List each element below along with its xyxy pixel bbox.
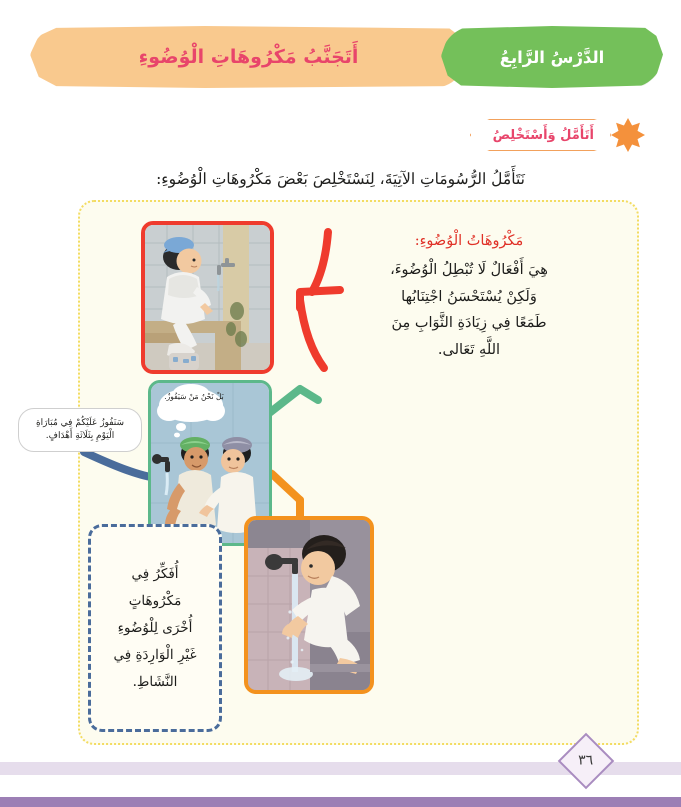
flower-diamond-icon — [611, 118, 645, 152]
definition-line-2: وَلَكِنْ يُسْتَحْسَنُ اجْتِنَابُها — [401, 289, 537, 305]
definition-line-4: اللَّهِ تَعَالى. — [438, 342, 500, 358]
footer-rule — [0, 797, 681, 807]
lesson-title-text: أَتَجَنَّبُ مَكْرُوهَاتِ الْوُضُوءِ — [139, 46, 359, 68]
page-number-text: ٣٦ — [578, 753, 593, 769]
reflection-line-2: مَكْرُوهَاتٍ — [129, 593, 182, 609]
lesson-number-tab: الدَّرْسُ الرَّابِعُ — [441, 26, 663, 88]
textbook-page: أَتَجَنَّبُ مَكْرُوهَاتِ الْوُضُوءِ الدَ… — [0, 0, 681, 807]
intro-instruction: نَتَأَمَّلُ الرُّسُومَاتِ الآتِيَةَ، لِن… — [46, 170, 635, 188]
reflection-line-5: النَّشَاطِ. — [133, 674, 178, 690]
section-badge-label: أَتَأَمَّلُ وَأَسْتَخْلِصُ — [493, 128, 594, 143]
reflection-box: أُفَكِّرُ فِي مَكْرُوهَاتٍ أُخْرَى لِلْو… — [88, 524, 222, 732]
section-badge-frame: أَتَأَمَّلُ وَأَسْتَخْلِصُ — [470, 119, 611, 151]
section-badge: أَتَأَمَّلُ وَأَسْتَخْلِصُ — [470, 118, 635, 152]
definition-block: مَكْرُوهَاتُ الْوُضُوءِ: هِيَ أَفْعَالٌ … — [353, 228, 585, 364]
lesson-number-text: الدَّرْسُ الرَّابِعُ — [500, 48, 605, 67]
speech-bubble-right: سَنَفُوزُ عَلَيْكُمْ فِي مُبَارَاةِ الْي… — [18, 408, 142, 452]
definition-heading: مَكْرُوهَاتُ الْوُضُوءِ: — [353, 228, 585, 255]
reflection-line-3: أُخْرَى لِلْوُضُوءِ — [118, 620, 193, 636]
definition-line-1: هِيَ أَفْعَالٌ لَا تُبْطِلُ الْوُضُوءَ، — [390, 262, 548, 278]
scene-boy-running-tap — [248, 520, 370, 690]
definition-line-3: طَمَعًا فِي زِيَادَةِ الثَّوَابِ مِنَ — [391, 315, 546, 331]
card-water-waste: ............ فِي اسْتِخْدَامِ الْمَاءِ. — [244, 516, 374, 694]
lesson-title-tab: أَتَجَنَّبُ مَكْرُوهَاتِ الْوُضُوءِ — [30, 26, 467, 88]
reflection-line-4: غَيْرِ الْوَارِدَةِ فِي — [113, 647, 196, 663]
card-wudu-place: الْوُضُوءُ فِي مَكَانٍ ........... — [141, 221, 274, 374]
reflection-line-1: أُفَكِّرُ فِي — [131, 566, 178, 582]
scene-boy-wudu-outdoor-tap — [145, 225, 270, 370]
page-header: أَتَجَنَّبُ مَكْرُوهَاتِ الْوُضُوءِ الدَ… — [30, 26, 663, 88]
speech-bubble-left-text: بَلْ نَحْنُ مَنْ سَيَفُوزُ. — [163, 391, 225, 402]
